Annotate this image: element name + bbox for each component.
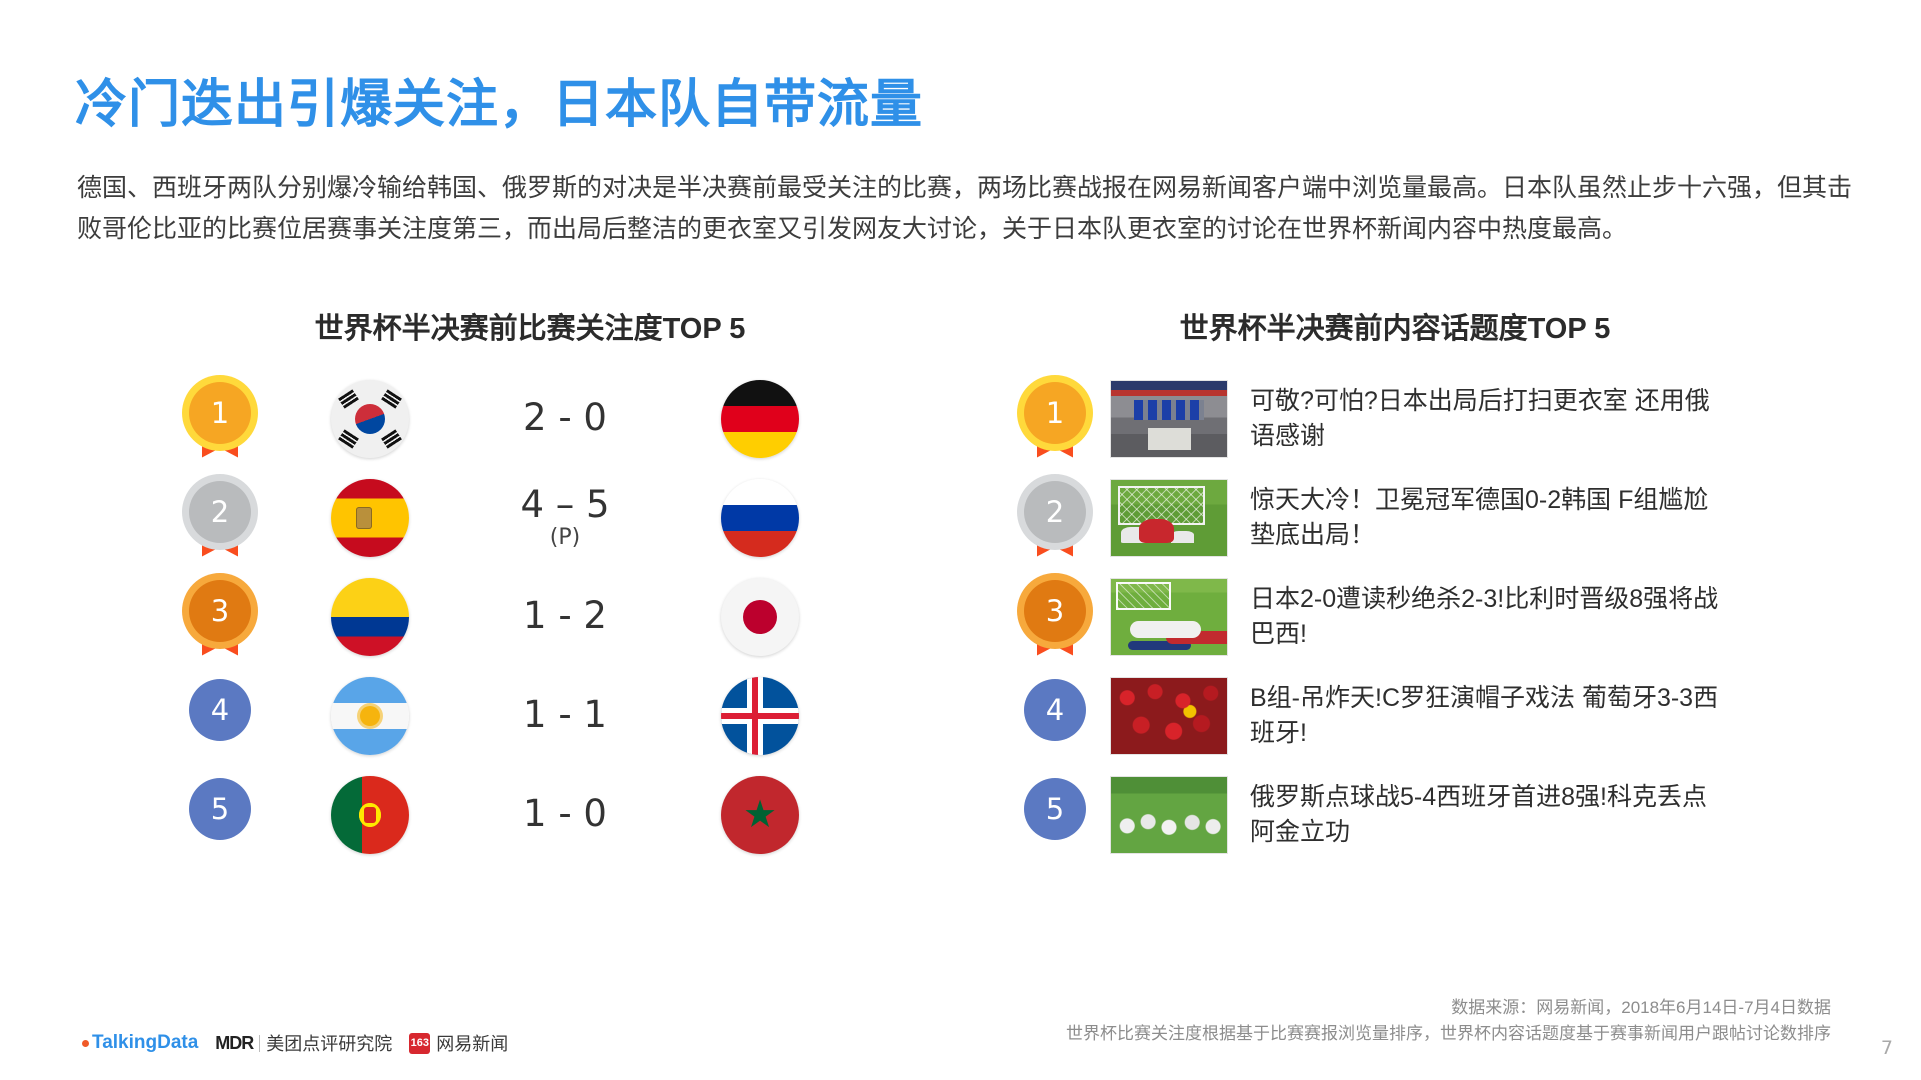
flag-japan-icon bbox=[721, 578, 799, 656]
rank-badge-cell: 5 bbox=[1000, 778, 1110, 852]
match-score: 4 – 5 (P) bbox=[460, 486, 670, 550]
home-flag-cell bbox=[280, 479, 460, 557]
rank-number: 3 bbox=[189, 580, 251, 642]
away-flag-cell bbox=[670, 380, 850, 458]
score-main: 1 - 0 bbox=[523, 792, 607, 835]
flag-spain-icon bbox=[331, 479, 409, 557]
table-row: 1 2 - 0 bbox=[160, 369, 940, 468]
medal-bronze-icon: 3 bbox=[189, 580, 251, 654]
rank-circle-icon: 4 bbox=[1024, 679, 1086, 753]
match-score: 1 - 0 bbox=[460, 795, 670, 834]
locker-room-photo bbox=[1110, 380, 1228, 458]
rank-circle-icon: 5 bbox=[1024, 778, 1086, 852]
rank-circle-icon: 4 bbox=[189, 679, 251, 753]
rank-badge-cell: 3 bbox=[1000, 580, 1110, 654]
away-flag-cell bbox=[670, 578, 850, 656]
list-item: 1 可敬?可怕?日本出局后打扫更衣室 还用俄语感谢 bbox=[1000, 369, 1820, 468]
table-row: 5 1 - 0 ★ bbox=[160, 765, 940, 864]
score-main: 1 - 2 bbox=[523, 594, 607, 637]
score-main: 1 - 1 bbox=[523, 693, 607, 736]
news-headline[interactable]: 惊天大冷！卫冕冠军德国0-2韩国 F组尴尬垫底出局！ bbox=[1250, 483, 1720, 552]
medal-silver-icon: 2 bbox=[1024, 481, 1086, 555]
match-ranking-column: 世界杯半决赛前比赛关注度TOP 5 1 2 - 0 bbox=[160, 305, 940, 864]
table-row: 3 1 - 2 bbox=[160, 567, 940, 666]
score-main: 4 – 5 bbox=[520, 483, 609, 526]
flag-iceland-icon bbox=[721, 677, 799, 755]
list-item: 2 惊天大冷！卫冕冠军德国0-2韩国 F组尴尬垫底出局！ bbox=[1000, 468, 1820, 567]
match-score: 2 - 0 bbox=[460, 399, 670, 438]
flag-korea-icon bbox=[331, 380, 409, 458]
intro-paragraph: 德国、西班牙两队分别爆冷输给韩国、俄罗斯的对决是半决赛前最受关注的比赛，两场比赛… bbox=[77, 168, 1852, 249]
goal-save-photo bbox=[1110, 479, 1228, 557]
list-item: 3 日本2-0遭读秒绝杀2-3!比利时晋级8强将战巴西! bbox=[1000, 567, 1820, 666]
home-flag-cell bbox=[280, 677, 460, 755]
rank-badge-cell: 4 bbox=[1000, 679, 1110, 753]
source-line-1: 数据来源：网易新闻，2018年6月14日-7月4日数据 bbox=[1066, 995, 1831, 1021]
away-flag-cell bbox=[670, 677, 850, 755]
rank-number: 2 bbox=[189, 481, 251, 543]
score-main: 2 - 0 bbox=[523, 396, 607, 439]
match-ranking-heading: 世界杯半决赛前比赛关注度TOP 5 bbox=[160, 305, 940, 347]
source-note: 数据来源：网易新闻，2018年6月14日-7月4日数据 世界杯比赛关注度根据基于… bbox=[1066, 995, 1831, 1048]
medal-silver-icon: 2 bbox=[189, 481, 251, 555]
rank-number: 2 bbox=[1024, 481, 1086, 543]
rank-badge-cell: 2 bbox=[160, 481, 280, 555]
rank-badge-cell: 1 bbox=[160, 382, 280, 456]
medal-bronze-icon: 3 bbox=[1024, 580, 1086, 654]
celebration-photo bbox=[1110, 776, 1228, 854]
red-crowd-photo bbox=[1110, 677, 1228, 755]
flag-germany-icon bbox=[721, 380, 799, 458]
rank-number: 1 bbox=[1024, 382, 1086, 444]
medal-gold-icon: 1 bbox=[189, 382, 251, 456]
news-headline[interactable]: 俄罗斯点球战5-4西班牙首进8强!科克丢点阿金立功 bbox=[1250, 780, 1720, 849]
score-note: (P) bbox=[460, 526, 670, 549]
rank-number: 4 bbox=[1024, 679, 1086, 741]
list-item: 5 俄罗斯点球战5-4西班牙首进8强!科克丢点阿金立功 bbox=[1000, 765, 1820, 864]
list-item: 4 B组-吊炸天!C罗狂演帽子戏法 葡萄牙3-3西班牙! bbox=[1000, 666, 1820, 765]
logo-bar: TalkingData MDR 美团点评研究院 163 网易新闻 bbox=[82, 1030, 508, 1056]
rank-circle-icon: 5 bbox=[189, 778, 251, 852]
news-ranking-heading: 世界杯半决赛前内容话题度TOP 5 bbox=[1000, 305, 1820, 347]
netease-label: 网易新闻 bbox=[436, 1030, 508, 1056]
flag-colombia-icon bbox=[331, 578, 409, 656]
mdr-label: 美团点评研究院 bbox=[266, 1030, 392, 1056]
table-row: 4 1 - 1 bbox=[160, 666, 940, 765]
home-flag-cell bbox=[280, 578, 460, 656]
rank-badge-cell: 1 bbox=[1000, 382, 1110, 456]
table-row: 2 4 – 5 (P) bbox=[160, 468, 940, 567]
players-on-pitch-photo bbox=[1110, 578, 1228, 656]
news-ranking-column: 世界杯半决赛前内容话题度TOP 5 1 可敬?可怕?日本出局后打扫更衣室 还用俄… bbox=[1000, 305, 1820, 864]
match-score: 1 - 1 bbox=[460, 696, 670, 735]
page-number: 7 bbox=[1881, 1037, 1893, 1059]
news-headline[interactable]: B组-吊炸天!C罗狂演帽子戏法 葡萄牙3-3西班牙! bbox=[1250, 681, 1720, 750]
talkingdata-dot-icon bbox=[82, 1040, 89, 1047]
talkingdata-logo: TalkingData bbox=[82, 1032, 198, 1054]
home-flag-cell bbox=[280, 380, 460, 458]
slide-root: 冷门迭出引爆关注，日本队自带流量 德国、西班牙两队分别爆冷输给韩国、俄罗斯的对决… bbox=[0, 0, 1921, 1080]
medal-gold-icon: 1 bbox=[1024, 382, 1086, 456]
rank-badge-cell: 5 bbox=[160, 778, 280, 852]
flag-portugal-icon bbox=[331, 776, 409, 854]
away-flag-cell: ★ bbox=[670, 776, 850, 854]
rank-badge-cell: 3 bbox=[160, 580, 280, 654]
logo-divider bbox=[259, 1035, 260, 1052]
news-headline[interactable]: 日本2-0遭读秒绝杀2-3!比利时晋级8强将战巴西! bbox=[1250, 582, 1720, 651]
mdr-mark: MDR bbox=[215, 1033, 253, 1054]
talkingdata-label: TalkingData bbox=[92, 1032, 198, 1054]
rank-number: 3 bbox=[1024, 580, 1086, 642]
rank-badge-cell: 2 bbox=[1000, 481, 1110, 555]
flag-morocco-icon: ★ bbox=[721, 776, 799, 854]
rank-number: 5 bbox=[189, 778, 251, 840]
away-flag-cell bbox=[670, 479, 850, 557]
rank-number: 4 bbox=[189, 679, 251, 741]
mdr-logo: MDR 美团点评研究院 bbox=[215, 1030, 392, 1056]
home-flag-cell bbox=[280, 776, 460, 854]
flag-argentina-icon bbox=[331, 677, 409, 755]
rank-number: 5 bbox=[1024, 778, 1086, 840]
netease-mark-icon: 163 bbox=[409, 1033, 430, 1054]
netease-logo: 163 网易新闻 bbox=[409, 1030, 508, 1056]
page-title: 冷门迭出引爆关注，日本队自带流量 bbox=[75, 62, 923, 137]
rank-badge-cell: 4 bbox=[160, 679, 280, 753]
match-score: 1 - 2 bbox=[460, 597, 670, 636]
source-line-2: 世界杯比赛关注度根据基于比赛赛报浏览量排序，世界杯内容话题度基于赛事新闻用户跟帖… bbox=[1066, 1021, 1831, 1047]
flag-russia-icon bbox=[721, 479, 799, 557]
news-headline[interactable]: 可敬?可怕?日本出局后打扫更衣室 还用俄语感谢 bbox=[1250, 384, 1720, 453]
rank-number: 1 bbox=[189, 382, 251, 444]
